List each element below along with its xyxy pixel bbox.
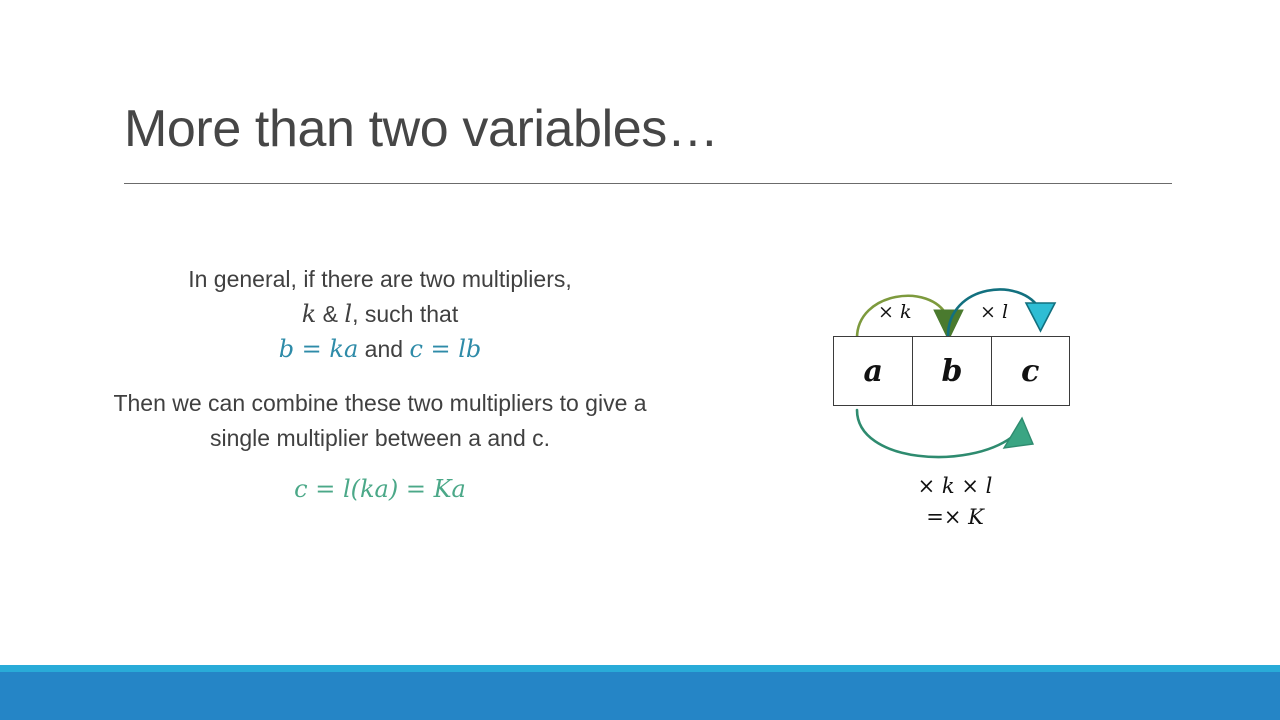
paragraph-intro: In general, if there are two multipliers…	[110, 262, 650, 367]
cell-c: c	[991, 337, 1069, 405]
such-that-text: , such that	[352, 301, 458, 327]
paragraph-result: c = l(ka) = Ka	[110, 472, 650, 507]
cell-b: b	[912, 337, 990, 405]
combined-line-2: =× K	[890, 502, 1020, 533]
math-k: k	[302, 300, 317, 328]
slide-canvas: More than two variables… In general, if …	[0, 0, 1280, 720]
paragraph-combine: Then we can combine these two multiplier…	[110, 386, 650, 456]
footer-bar	[0, 672, 1280, 720]
and-text: and	[358, 336, 409, 362]
multiplier-diagram: a b c × k × l × k × l =× K	[800, 258, 1100, 548]
body-text-column: In general, if there are two multipliers…	[110, 262, 650, 507]
ampersand-text: &	[316, 301, 344, 327]
intro-line-2: k & l, such that	[110, 297, 650, 332]
arrow-a-to-c-curve	[857, 410, 1012, 457]
arrow-label-combined: × k × l =× K	[890, 471, 1020, 533]
combined-line-1: × k × l	[890, 471, 1020, 502]
arrow-a-to-c-head-icon	[1004, 418, 1033, 448]
arrow-label-times-l: × l	[980, 301, 1008, 323]
math-l: l	[344, 300, 352, 328]
variable-cells-table: a b c	[833, 336, 1070, 406]
title-divider	[124, 183, 1172, 184]
intro-line-1: In general, if there are two multipliers…	[110, 262, 650, 297]
equation-b-equals-ka: b = ka	[279, 335, 359, 363]
equation-c-equals-l-ka-equals-Ka: c = l(ka) = Ka	[294, 475, 466, 503]
intro-line-3: b = ka and c = lb	[110, 332, 650, 367]
arrow-b-to-c-head-icon	[1026, 303, 1055, 331]
cell-a: a	[834, 337, 912, 405]
arrow-label-times-k: × k	[878, 301, 911, 323]
equation-c-equals-lb: c = lb	[409, 335, 481, 363]
page-title: More than two variables…	[124, 100, 1174, 160]
footer-accent-bar	[0, 665, 1280, 672]
